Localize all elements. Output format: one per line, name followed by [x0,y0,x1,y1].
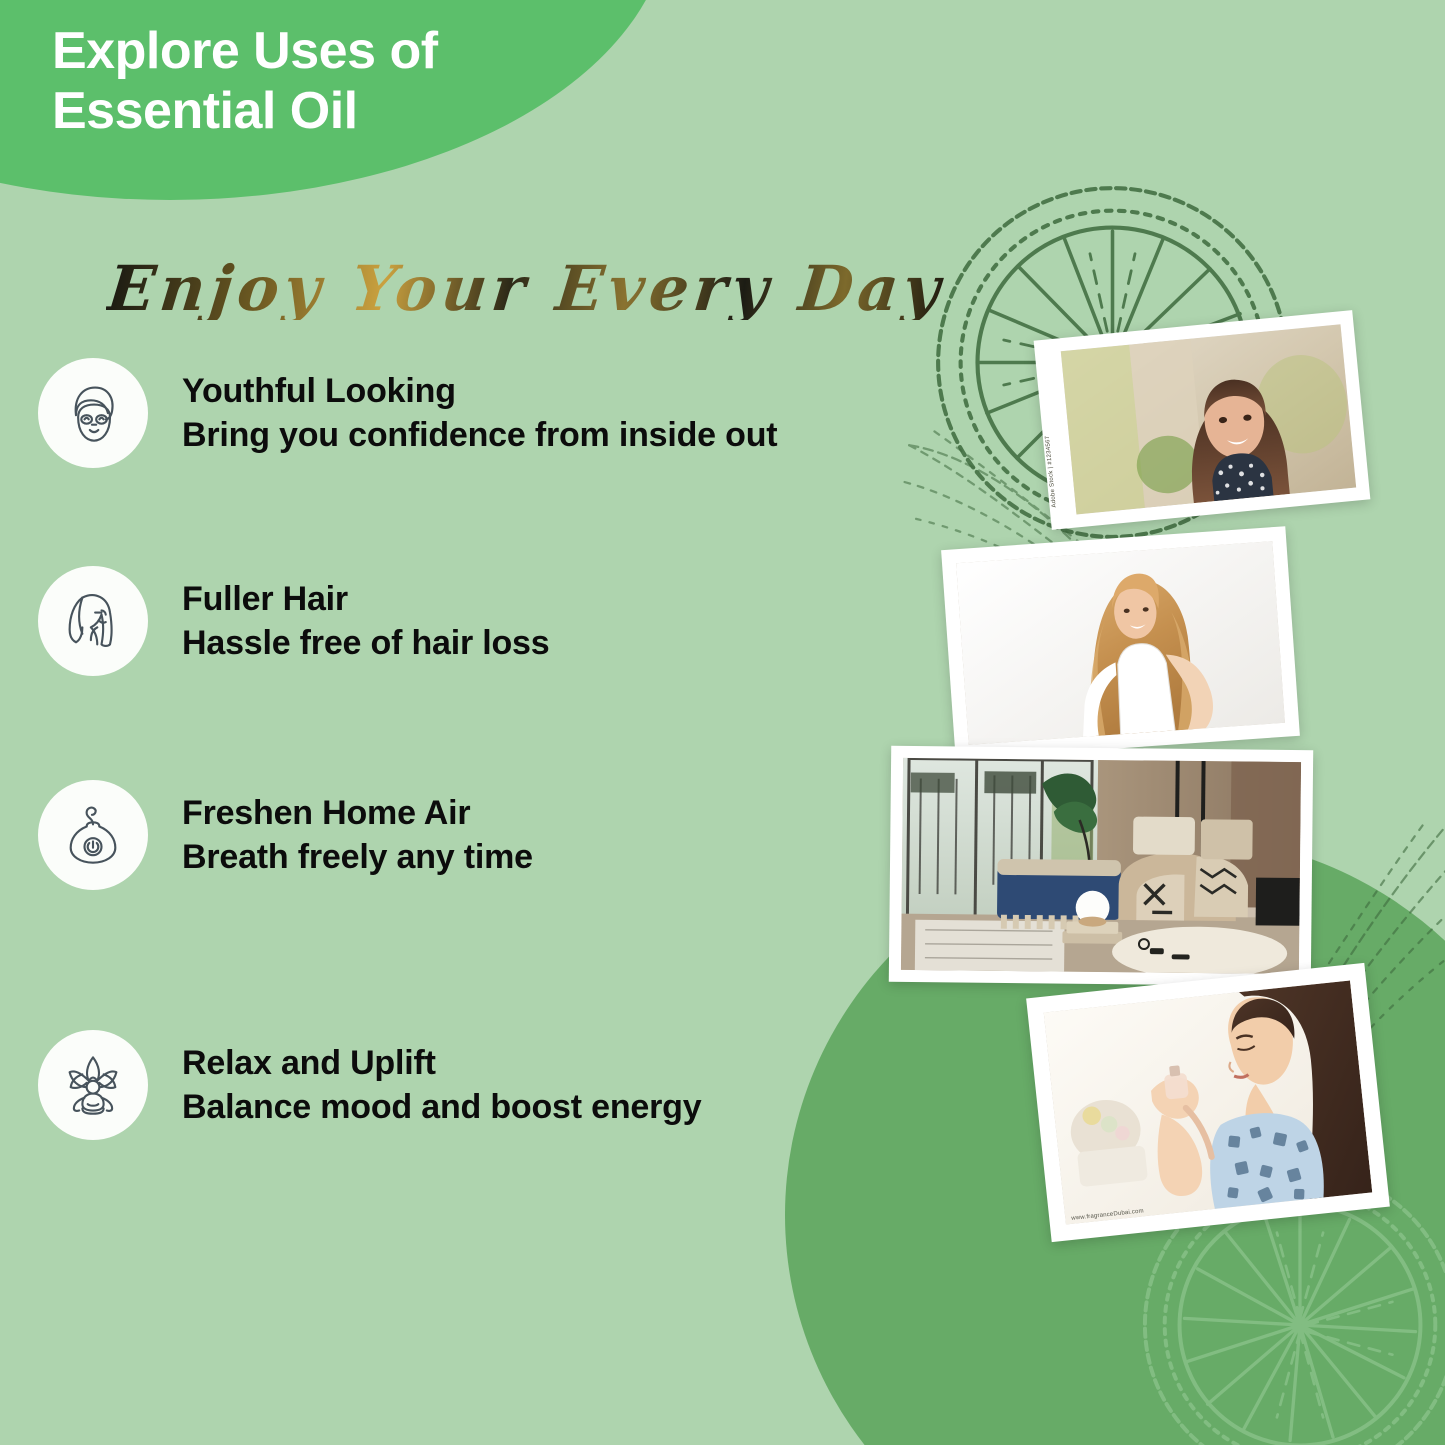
feature-item-relax-and-uplift: Relax and Uplift Balance mood and boost … [38,1030,701,1140]
lotus-meditation-icon [38,1030,148,1140]
photo-woman-applying-fragrance: www.fragranceDubai.com [1026,963,1390,1242]
feature-title: Fuller Hair [182,578,549,622]
feature-subtitle: Breath freely any time [182,836,533,880]
feature-subtitle: Hassle free of hair loss [182,622,549,666]
photo-long-wavy-hair-image [956,541,1285,745]
feature-text: Relax and Uplift Balance mood and boost … [182,1040,701,1129]
page-title-text: Explore Uses of Essential Oil [52,22,672,142]
feature-subtitle: Balance mood and boost energy [182,1086,701,1130]
photo-smiling-woman-image [1061,324,1356,514]
photo-fragrance-image [1044,980,1373,1224]
feature-text: Youthful Looking Bring you confidence fr… [182,368,777,457]
photo-living-room-diffuser [889,746,1313,986]
photo-long-wavy-hair [941,526,1300,760]
feature-title: Relax and Uplift [182,1042,701,1086]
feature-title: Freshen Home Air [182,792,533,836]
feature-title: Youthful Looking [182,370,777,414]
tagline: Enjoy Your Every Day [105,258,948,320]
feature-text: Fuller Hair Hassle free of hair loss [182,576,549,665]
feature-item-freshen-home-air: Freshen Home Air Breath freely any time [38,780,533,890]
poster-canvas: Adobe Stock | #1234567 [0,0,1445,1445]
photo-smiling-woman: Adobe Stock | #1234567 [1034,310,1371,530]
page-title: Explore Uses of Essential Oil [52,22,672,142]
aroma-diffuser-icon [38,780,148,890]
feature-subtitle: Bring you confidence from inside out [182,414,777,458]
feature-text: Freshen Home Air Breath freely any time [182,790,533,879]
feature-item-youthful-looking: Youthful Looking Bring you confidence fr… [38,358,777,468]
photo-living-room-image [901,758,1301,974]
long-hair-profile-icon [38,566,148,676]
face-mask-icon [38,358,148,468]
feature-item-fuller-hair: Fuller Hair Hassle free of hair loss [38,566,549,676]
